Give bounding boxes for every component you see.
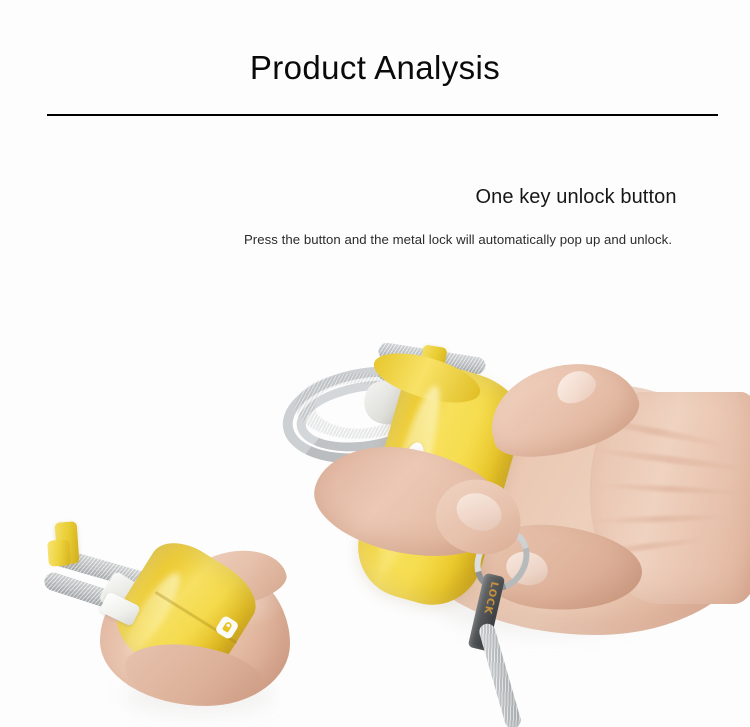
main-product-photo: LOCK xyxy=(260,330,750,727)
page-title: Product Analysis xyxy=(0,48,750,88)
title-divider xyxy=(47,114,718,116)
feature-heading: One key unlock button xyxy=(396,184,750,210)
feature-description: Press the button and the metal lock will… xyxy=(178,231,738,249)
cable-tail xyxy=(477,622,522,727)
inset-product-photo xyxy=(28,500,328,727)
product-analysis-page: Product Analysis One key unlock button P… xyxy=(0,0,750,727)
product-photo-stage: LOCK xyxy=(0,300,750,727)
padlock-icon xyxy=(218,619,235,636)
cable-clip xyxy=(47,539,71,566)
